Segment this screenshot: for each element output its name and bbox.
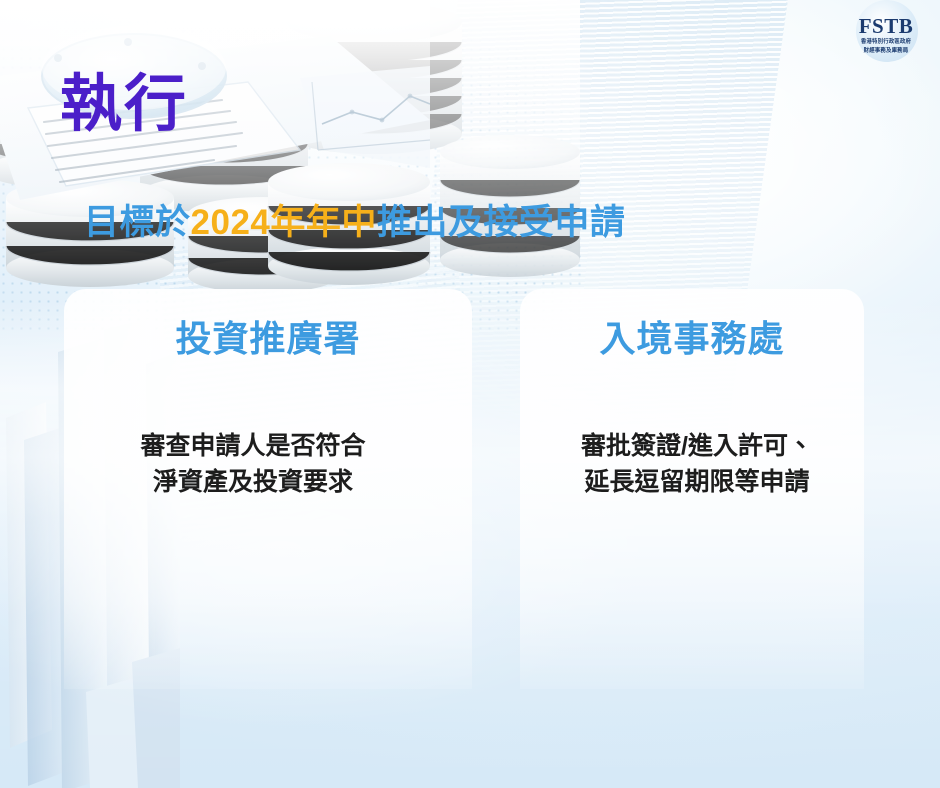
card-title-invest-hk: 投資推廣署 bbox=[64, 321, 472, 357]
logo-wordmark: FSTB bbox=[859, 16, 914, 37]
logo-chinese-line-1: 香港特別行政區政府 bbox=[861, 39, 911, 46]
slide-content: FSTB 香港特別行政區政府 財經事務及庫務局 執行 目標於2024年年中推出及… bbox=[0, 0, 940, 788]
card-body-immigration: 審批簽證/進入許可、 延長逗留期限等申請 bbox=[520, 429, 864, 500]
cards-row: 投資推廣署 審查申請人是否符合 淨資產及投資要求 入境事務處 審批簽證/進入許可… bbox=[0, 289, 940, 689]
card-body-line-1: 審查申請人是否符合 bbox=[64, 429, 442, 465]
slide-root: FSTB 香港特別行政區政府 財經事務及庫務局 執行 目標於2024年年中推出及… bbox=[0, 0, 940, 788]
card-body-invest-hk: 審查申請人是否符合 淨資產及投資要求 bbox=[64, 429, 472, 500]
card-invest-hk: 投資推廣署 審查申請人是否符合 淨資產及投資要求 bbox=[64, 289, 472, 689]
subtitle-lead: 目標於 bbox=[84, 203, 191, 242]
card-immigration: 入境事務處 審批簽證/進入許可、 延長逗留期限等申請 bbox=[520, 289, 864, 689]
subtitle-tail: 推出及接受申請 bbox=[377, 203, 626, 242]
page-title: 執行 bbox=[60, 74, 188, 136]
card-body-line-2: 延長逗留期限等申請 bbox=[530, 465, 864, 501]
fstb-logo: FSTB 香港特別行政區政府 財經事務及庫務局 bbox=[850, 10, 922, 60]
card-body-line-2: 淨資產及投資要求 bbox=[64, 465, 442, 501]
logo-chinese-line-2: 財經事務及庫務局 bbox=[864, 48, 909, 55]
subtitle: 目標於2024年年中推出及接受申請 bbox=[84, 203, 625, 243]
card-title-immigration: 入境事務處 bbox=[520, 321, 864, 357]
subtitle-highlight: 2024年年中 bbox=[191, 203, 377, 242]
card-body-line-1: 審批簽證/進入許可、 bbox=[530, 429, 864, 465]
